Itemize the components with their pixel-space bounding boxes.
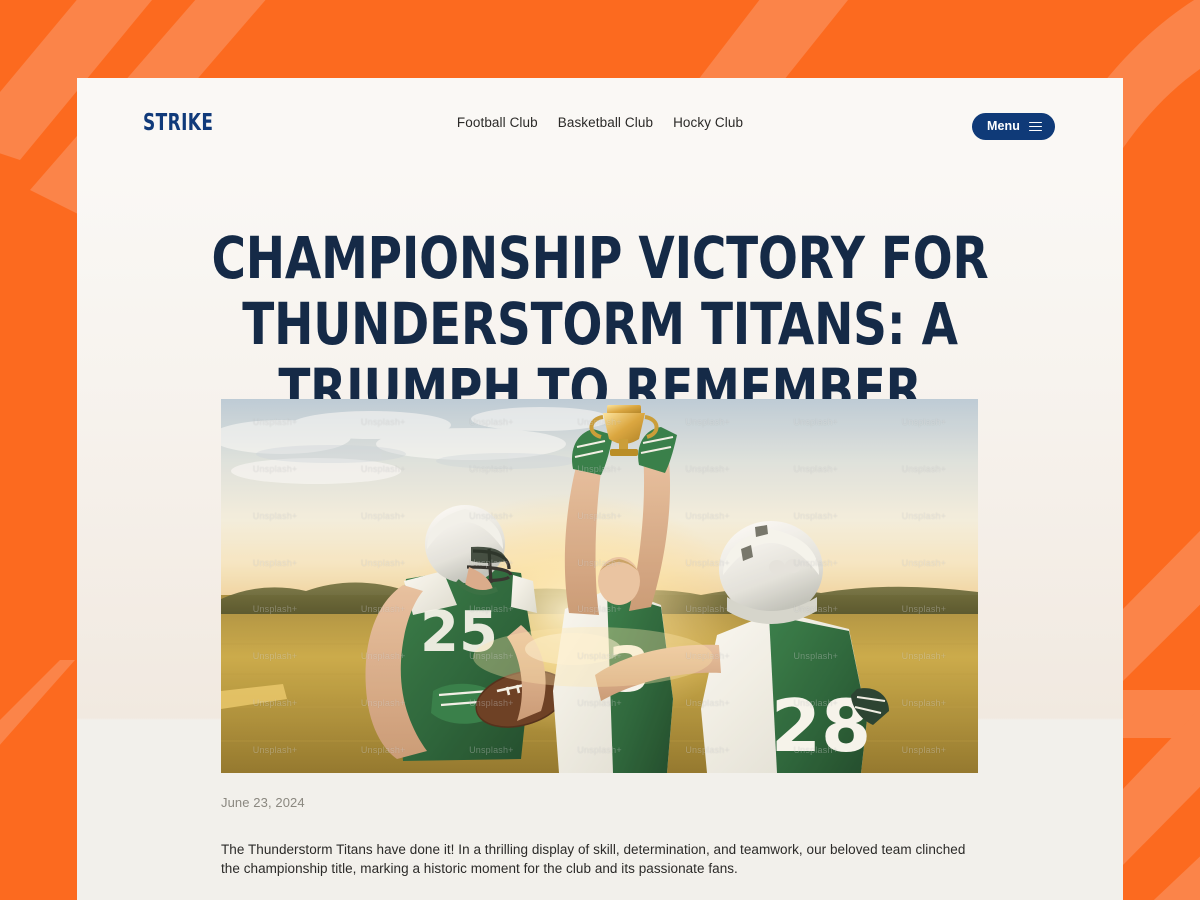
menu-button-label: Menu [987,120,1020,133]
hero-photo-football-celebration: 25 [221,399,978,773]
main-navigation: Football Club Basketball Club Hocky Club [77,115,1123,130]
article-body-text: The Thunderstorm Titans have done it! In… [221,840,971,878]
nav-item-hocky-club[interactable]: Hocky Club [673,115,743,130]
article-date: June 23, 2024 [221,795,305,810]
hamburger-icon [1029,122,1042,132]
site-header: STRIKE Football Club Basketball Club Hoc… [77,78,1123,174]
menu-button[interactable]: Menu [972,113,1055,140]
article-headline: Championship Victory for Thunderstorm Ti… [129,225,1070,423]
nav-item-basketball-club[interactable]: Basketball Club [558,115,653,130]
article-card: STRIKE Football Club Basketball Club Hoc… [77,78,1123,900]
page-backdrop: STRIKE Football Club Basketball Club Hoc… [0,0,1200,900]
nav-item-football-club[interactable]: Football Club [457,115,538,130]
hero-image-figure: 25 [221,399,978,773]
